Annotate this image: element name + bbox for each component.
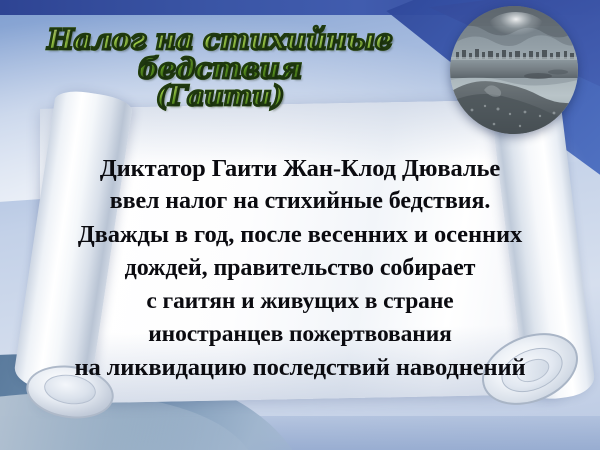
title-line-1: Налог на стихийные бедствия	[0, 26, 440, 83]
slide-body-text: Диктатор Гаити Жан-Клод Дювалье ввел нал…	[0, 152, 600, 384]
presentation-slide: Налог на стихийные бедствия (Гаити) Дикт…	[0, 0, 600, 450]
flood-photo	[450, 6, 578, 134]
title-line-2: (Гаити)	[0, 83, 440, 111]
slide-title: Налог на стихийные бедствия (Гаити)	[0, 26, 440, 111]
body-line-2: ввел налог на стихийные бедствия.	[0, 185, 600, 218]
flood-photo-image	[450, 6, 578, 134]
body-line-4: дождей, правительство собирает	[0, 252, 600, 285]
body-line-5: с гаитян и живущих в стране	[0, 285, 600, 318]
body-line-6: иностранцев пожертвования	[0, 318, 600, 351]
body-line-1: Диктатор Гаити Жан-Клод Дювалье	[0, 152, 600, 185]
body-line-7: на ликвидацию последствий наводнений	[0, 351, 600, 384]
body-line-3: Дважды в год, после весенних и осенних	[0, 218, 600, 251]
